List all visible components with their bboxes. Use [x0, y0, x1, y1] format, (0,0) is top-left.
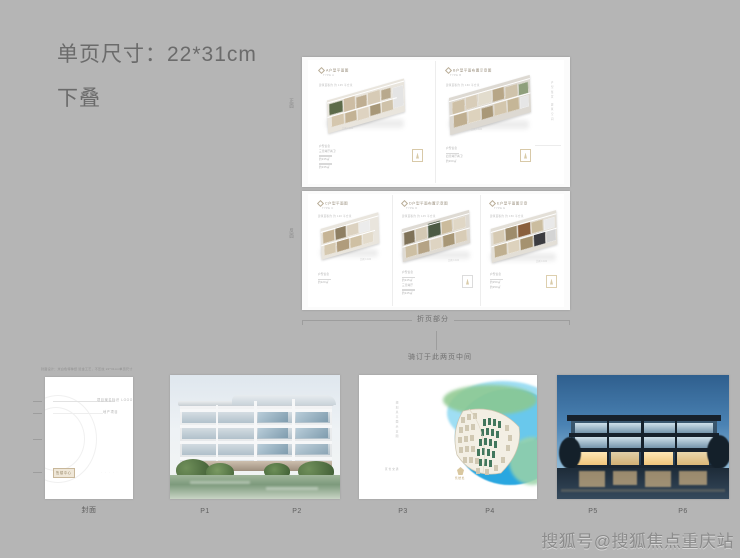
thumbnail-label-p1: P1 [190, 508, 220, 515]
watermark: 搜狐号@搜狐焦点重庆站 [541, 527, 734, 552]
thumbnail-p1-p2[interactable] [170, 375, 340, 499]
page-title-line1: 单页尺寸：22*31cm [57, 43, 257, 66]
cover-plate: 售楼中心 [53, 468, 75, 478]
thumbnail-label-cover: 封面 [45, 505, 133, 515]
plan-scale: 比例 1:100 [342, 126, 353, 130]
render-day-exterior [170, 375, 340, 499]
spec-0: 户型信息 [446, 147, 463, 152]
spread-bottom-page-d: D户型平面布置示意图 TYPE D 建筑面积约 约 145 平方米 比例 1:1… [396, 191, 478, 310]
thumbnail-label-p5: P5 [578, 508, 608, 515]
plan-title: B户型平面布置示意图 [446, 68, 492, 73]
plan-specs: 户型信息 约120㎡ [318, 273, 331, 286]
plan-scale: 比例 1:100 [471, 127, 482, 131]
cover-sub-line: 地产项目 [103, 409, 118, 414]
page-title: 单页尺寸：22*31cm 下叠 [57, 44, 257, 65]
binding-caption: 骑订于此两页中间 [408, 352, 472, 362]
render-night-exterior [557, 375, 729, 499]
plan-specs: 户型信息 约145㎡ 三室两厅 约145㎡ [402, 271, 415, 296]
spread-bottom-page-c: C户型平面图 TYPE C 建筑面积约 约 120 平方米 比例 1:100 户… [312, 191, 390, 310]
spec-2: 三室两厅 [402, 284, 415, 289]
plan-title: E户型平面图示意 [490, 201, 528, 206]
thumbnail-p3-p4[interactable]: 规划总平面示意图 区位交通 售楼处 [359, 375, 537, 499]
thumbnail-label-p4: P4 [475, 508, 505, 515]
thumbnail-label-p2: P2 [282, 508, 312, 515]
reg-tick-center [33, 439, 42, 440]
plan-desc: 建筑面积约 约 120 平方米 [318, 214, 352, 218]
site-plan-mark: 售楼处 [455, 476, 465, 480]
cover-note: 封面设计：米白色特种纸 烫金工艺，不压纹 22*31cm单页尺寸 [41, 366, 133, 371]
plan-scale: 比例 1:100 [448, 258, 459, 262]
plan-subtitle: TYPE C [322, 207, 334, 210]
spec-2: 约135㎡ [319, 158, 336, 163]
compass-icon [412, 149, 423, 162]
binding-leader [436, 331, 437, 350]
plan-title: C户型平面图 [318, 201, 348, 206]
site-plan-page: 规划总平面示意图 区位交通 售楼处 [359, 375, 537, 499]
plan-scale: 比例 1:100 [536, 259, 547, 263]
thumbnail-cover[interactable]: 项目案名标识 LOGO 地产项目 售楼中心 · · · · [45, 377, 133, 499]
cover-plate-text: 售楼中心 [56, 470, 72, 475]
site-plan-vertical-text: 规划总平面示意图 [395, 401, 399, 453]
plan-subtitle: TYPE D [406, 207, 418, 210]
spread-top-side-label: 正面 [289, 98, 294, 109]
cover-logo-text: · · · · [101, 470, 115, 474]
spec-1: 约120㎡ [318, 281, 331, 286]
thumbnail-label-p3: P3 [388, 508, 418, 515]
compass-icon [520, 149, 531, 162]
spec-3: 约145㎡ [402, 292, 415, 297]
spec-0: 户型信息 [490, 273, 503, 278]
fold-caption: 折页部分 [412, 314, 454, 324]
plan-title: A户型平面图 [319, 68, 349, 73]
spec-2: 约160㎡ [446, 160, 463, 165]
spec-3: 约135㎡ [319, 166, 336, 171]
canvas: 单页尺寸：22*31cm 下叠 正面 A户型平面图 TYPE A 建筑面积约 约… [0, 0, 740, 558]
thumbnail-label-p6: P6 [668, 508, 698, 515]
plan-desc: 建筑面积约 约 160 平方米 [446, 83, 480, 87]
plan-title: D户型平面布置示意图 [402, 201, 448, 206]
cover-page-frame: 项目案名标识 LOGO 地产项目 售楼中心 · · · · [45, 377, 133, 499]
compass-icon [546, 275, 557, 288]
spec-2: 约150㎡ [490, 286, 503, 291]
cover-title-line: 项目案名标识 LOGO [97, 397, 133, 402]
plan-subtitle: TYPE B [450, 74, 461, 77]
plan-specs: 户型信息 三室两厅两卫 约135㎡ 约135㎡ [319, 145, 336, 170]
spec-1: 三室两厅两卫 [319, 150, 336, 155]
plan-desc: 建筑面积约 约 145 平方米 [402, 214, 436, 218]
plan-subtitle: TYPE A [323, 74, 334, 77]
spec-0: 户型信息 [402, 271, 415, 276]
spread-top: A户型平面图 TYPE A 建筑面积约 约 135 平方米 比例 1 [302, 57, 570, 187]
vertical-note: 户型鉴赏 建筑空间 [549, 81, 553, 133]
footer-rule [535, 145, 561, 146]
spread-top-page-a: A户型平面图 TYPE A 建筑面积约 约 135 平方米 比例 1 [312, 57, 432, 187]
reg-tick-top [33, 401, 42, 402]
spread-bottom: C户型平面图 TYPE C 建筑面积约 约 120 平方米 比例 1:100 户… [302, 191, 570, 310]
plan-subtitle: TYPE E [494, 207, 505, 210]
plan-specs: 户型信息 四室两厅两卫 约160㎡ [446, 147, 463, 164]
plan-desc: 建筑面积约 约 150 平方米 [490, 214, 524, 218]
page-title-line2: 下叠 [57, 88, 101, 109]
spec-0: 户型信息 [318, 273, 331, 278]
plan-specs: 户型信息 约150㎡ 约150㎡ [490, 273, 503, 290]
reg-tick-bottom [33, 472, 42, 473]
site-plan-legend: 区位交通 [385, 467, 399, 471]
spread-bottom-page-e: E户型平面图示意 TYPE E 建筑面积约 约 150 平方米 比例 1:100 [484, 191, 564, 310]
spread-bottom-side-label: 反面 [289, 228, 294, 239]
spread-top-page-b: B户型平面布置示意图 TYPE B 建筑面积约 约 160 平方米 [439, 57, 565, 187]
spec-1: 四室两厅两卫 [446, 155, 463, 160]
reg-tick-gutter [33, 413, 42, 414]
thumbnail-p5-p6[interactable] [557, 375, 729, 499]
compass-icon [462, 275, 473, 288]
plan-scale: 比例 1:100 [360, 257, 371, 261]
plan-desc: 建筑面积约 约 135 平方米 [319, 83, 353, 87]
